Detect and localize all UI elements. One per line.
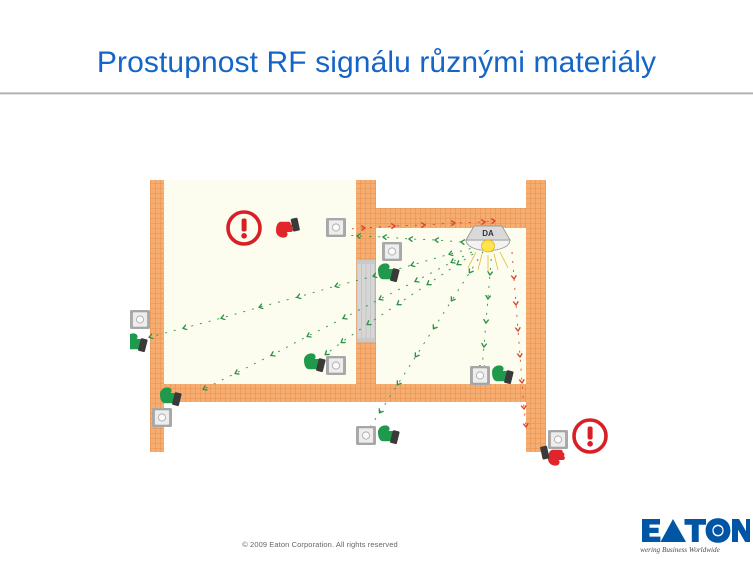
wall-bottom-right	[376, 384, 546, 402]
footer-copyright: © 2009 Eaton Corporation. All rights res…	[0, 540, 640, 549]
eaton-tagline: Powering Business Worldwide	[640, 546, 721, 554]
page-title: Prostupnost RF signálu různými materiály	[0, 44, 753, 82]
sensor-node	[382, 242, 402, 261]
thumb-up-icon	[378, 425, 400, 444]
sensor-node	[130, 310, 150, 329]
sensor-node	[356, 426, 376, 445]
sensor-node	[548, 430, 568, 449]
luminaire-label: DA	[482, 229, 494, 238]
eaton-wordmark-icon	[642, 518, 750, 543]
sensor-node	[470, 366, 490, 385]
slide: Prostupnost RF signálu různými materiály	[0, 0, 753, 565]
thumb-up-icon	[130, 333, 148, 352]
sensor-node	[326, 356, 346, 375]
wall-bottom-left	[150, 384, 376, 402]
sensor-node	[152, 408, 172, 427]
wall-top-inner	[356, 208, 546, 228]
alert-icon	[574, 420, 606, 452]
eaton-logo: Powering Business Worldwide	[640, 513, 750, 557]
rf-propagation-diagram: DA	[130, 168, 610, 468]
sensor-node	[326, 218, 346, 237]
title-divider	[0, 92, 753, 95]
